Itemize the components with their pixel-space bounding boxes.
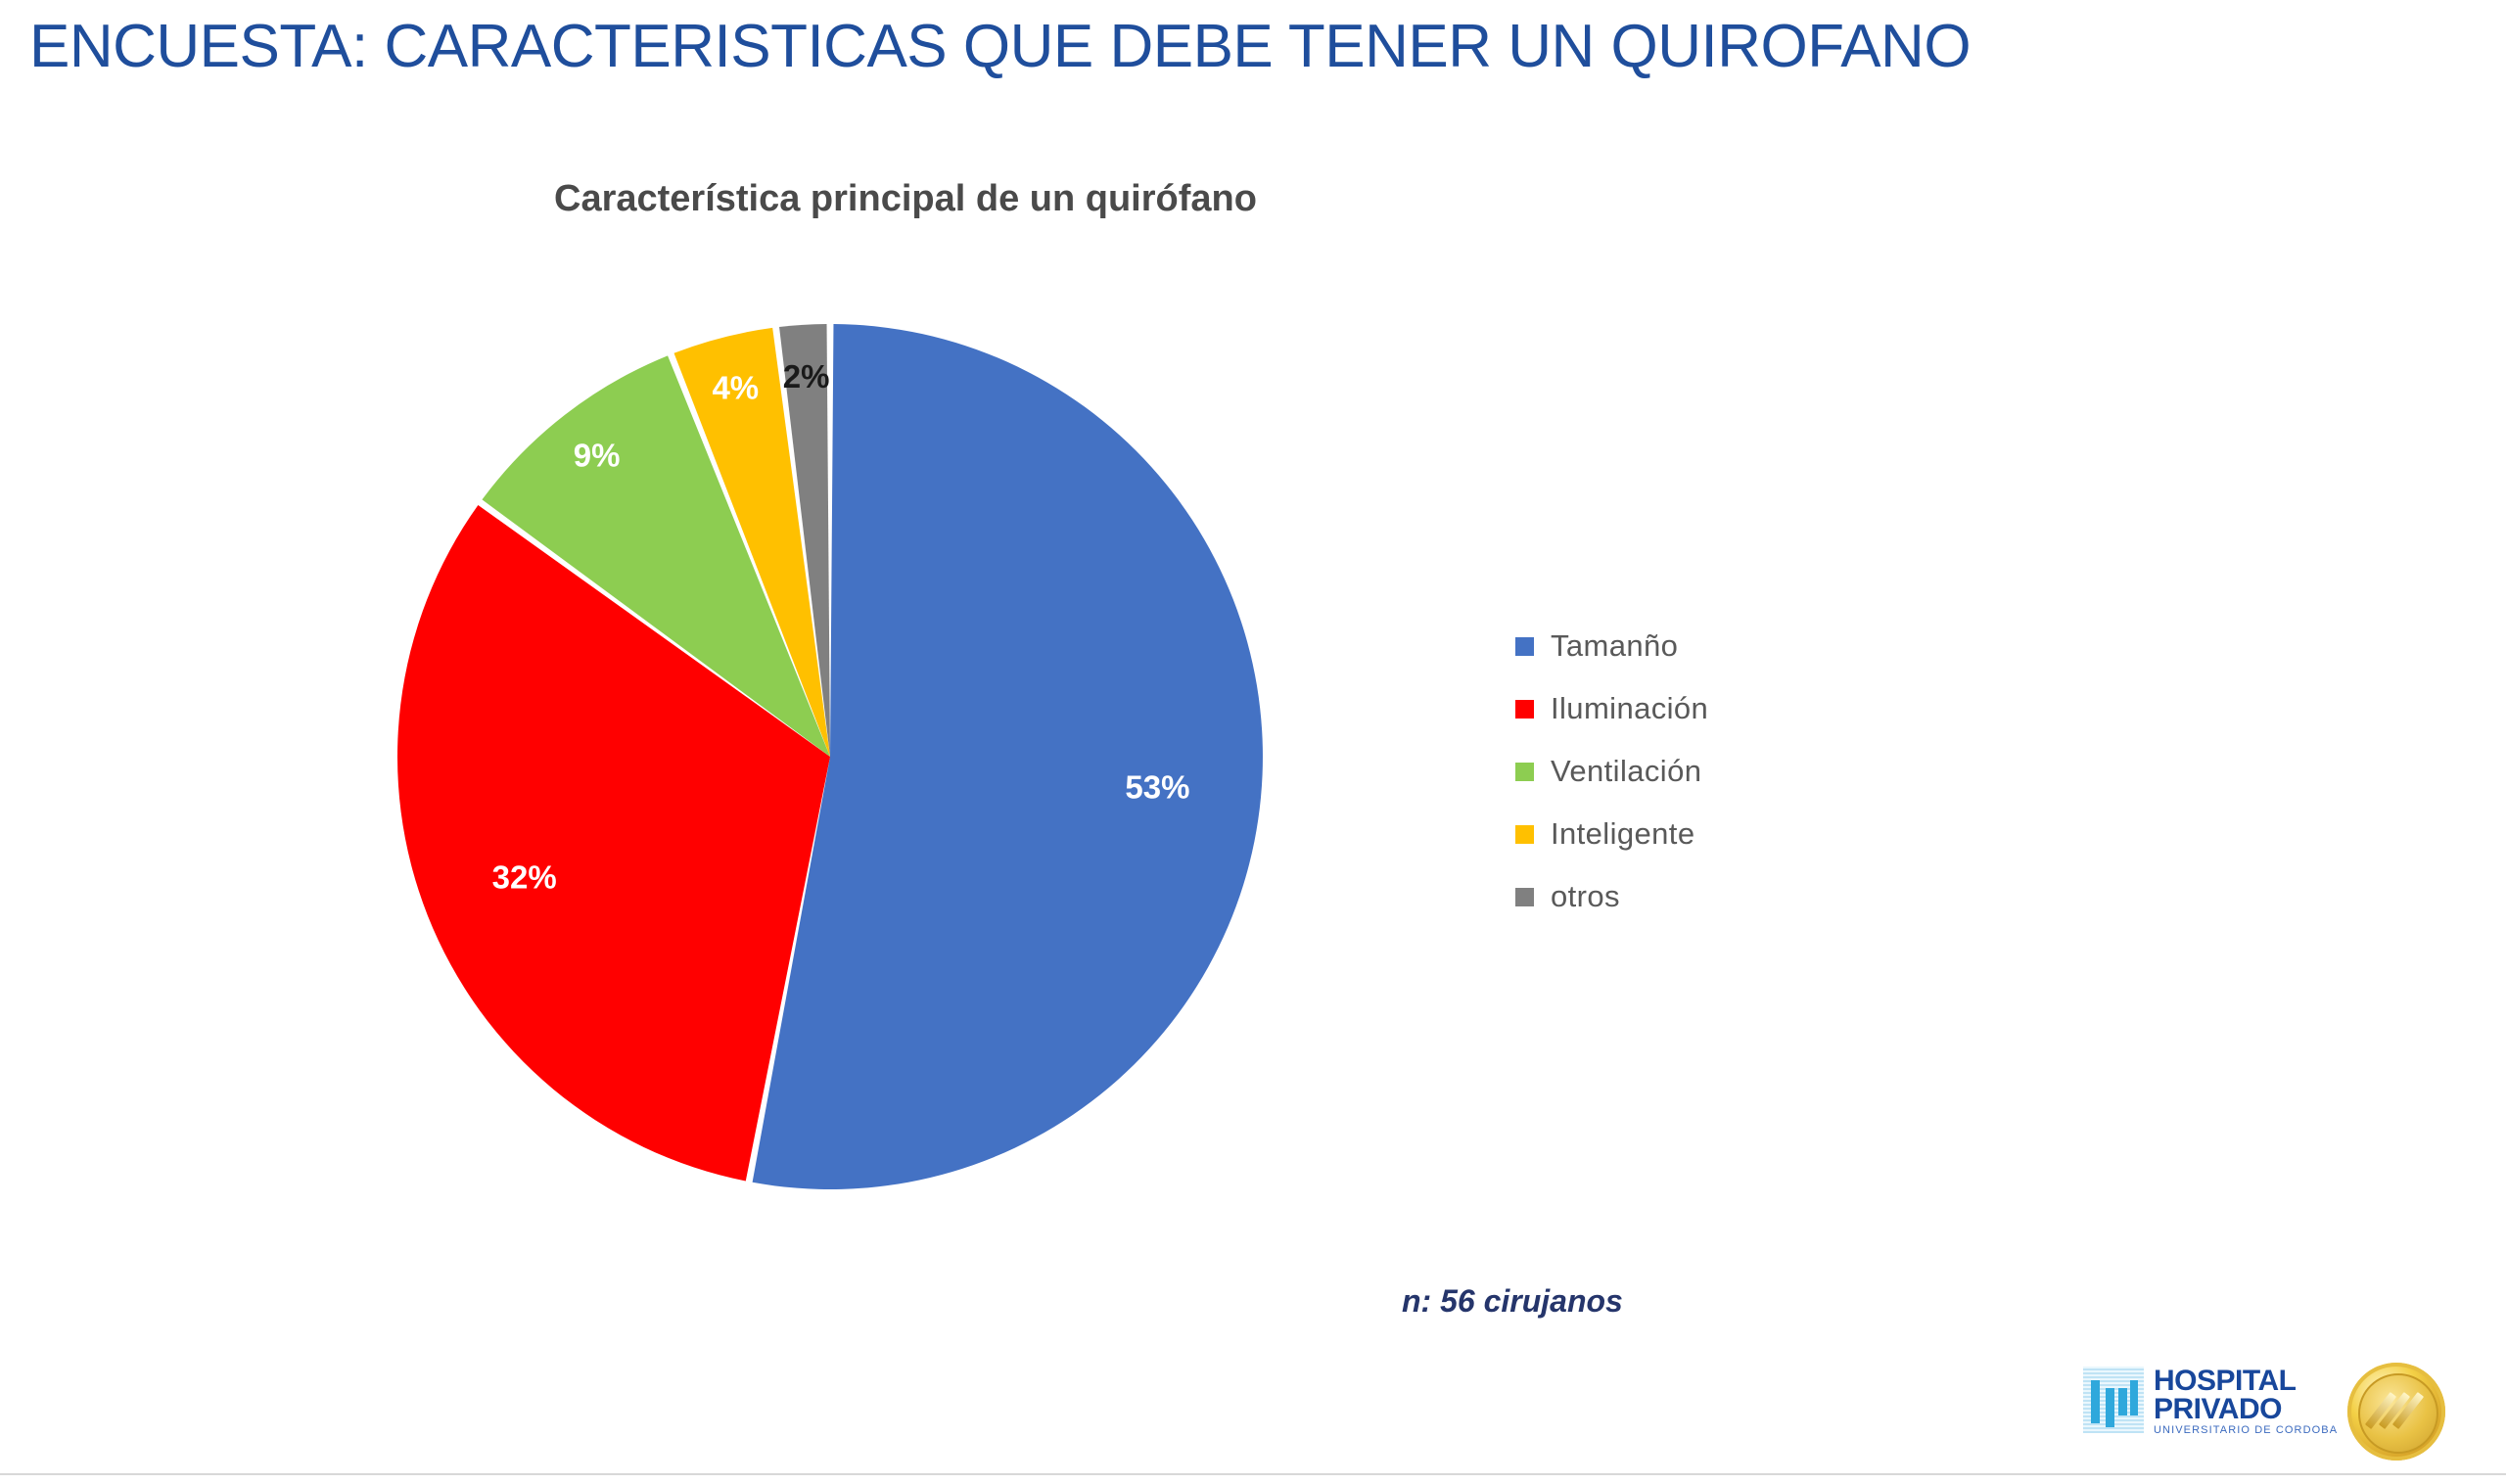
hospital-privado-logo: HOSPITAL PRIVADO UNIVERSITARIO DE CORDOB… xyxy=(2083,1367,2338,1437)
pie-data-label: 53% xyxy=(1125,769,1189,806)
legend-swatch-icon xyxy=(1515,888,1534,906)
hospital-privado-wordmark: HOSPITAL PRIVADO UNIVERSITARIO DE CORDOB… xyxy=(2154,1367,2338,1437)
bottom-divider xyxy=(0,1473,2506,1475)
legend-swatch-icon xyxy=(1515,637,1534,656)
pie-chart: Característica principal de un quirófano… xyxy=(0,108,2251,1282)
pie-data-label: 4% xyxy=(712,369,759,405)
footer-logos: HOSPITAL PRIVADO UNIVERSITARIO DE CORDOB… xyxy=(2083,1363,2494,1464)
legend-item[interactable]: otros xyxy=(1515,865,1926,928)
logo-subtitle: UNIVERSITARIO DE CORDOBA xyxy=(2154,1423,2338,1437)
legend-item-label: Ventilación xyxy=(1551,754,1701,789)
page-title: ENCUESTA: CARACTERISTICAS QUE DEBE TENER… xyxy=(29,6,2281,88)
chart-legend: TamanñoIluminaciónVentilaciónInteligente… xyxy=(1515,615,1926,928)
chart-title: Característica principal de un quirófano xyxy=(554,178,1631,223)
legend-item[interactable]: Iluminación xyxy=(1515,677,1926,740)
legend-item[interactable]: Inteligente xyxy=(1515,803,1926,865)
logo-line-1: HOSPITAL xyxy=(2154,1367,2338,1395)
pie-data-label: 2% xyxy=(783,358,830,394)
legend-item-label: Tamanño xyxy=(1551,628,1678,664)
slide-canvas: ENCUESTA: CARACTERISTICAS QUE DEBE TENER… xyxy=(0,0,2506,1484)
pie-data-label: 32% xyxy=(492,859,557,896)
pie-svg: 53%32%9%4%2% xyxy=(390,316,1271,1197)
legend-swatch-icon xyxy=(1515,763,1534,781)
legend-item-label: otros xyxy=(1551,879,1620,914)
legend-item-label: Iluminación xyxy=(1551,691,1708,726)
legend-item[interactable]: Ventilación xyxy=(1515,740,1926,803)
joint-commission-seal-icon xyxy=(2347,1363,2445,1461)
pie-graphic: 53%32%9%4%2% xyxy=(390,316,1271,1197)
hp-monogram-icon xyxy=(2083,1367,2144,1433)
legend-swatch-icon xyxy=(1515,700,1534,719)
legend-item-label: Inteligente xyxy=(1551,816,1694,852)
sample-size-note: n: 56 cirujanos xyxy=(1402,1283,1623,1320)
pie-data-label: 9% xyxy=(574,438,621,474)
legend-swatch-icon xyxy=(1515,825,1534,844)
legend-item[interactable]: Tamanño xyxy=(1515,615,1926,677)
logo-line-2: PRIVADO xyxy=(2154,1395,2338,1423)
